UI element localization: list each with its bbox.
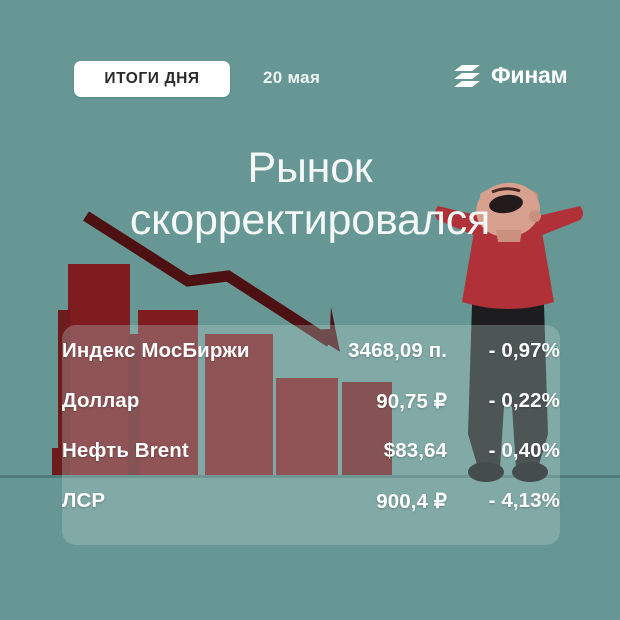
table-row: Нефть Brent $83,64 - 0,40%	[62, 439, 560, 463]
row-change: - 0,97%	[447, 339, 560, 363]
page-title-line2: скорректировался	[0, 194, 620, 246]
table-row: ЛСР 900,4 ₽ - 4,13%	[62, 489, 560, 513]
row-value: $83,64	[312, 439, 447, 463]
row-change: - 4,13%	[447, 489, 560, 513]
row-name: Доллар	[62, 389, 312, 413]
row-value: 3468,09 п.	[312, 339, 447, 363]
row-name: Нефть Brent	[62, 439, 312, 463]
row-value: 90,75 ₽	[312, 389, 447, 414]
table-row: Доллар 90,75 ₽ - 0,22%	[62, 389, 560, 413]
table-row: Индекс МосБиржи 3468,09 п. - 0,97%	[62, 339, 560, 363]
row-value: 900,4 ₽	[312, 489, 447, 514]
summary-table: Индекс МосБиржи 3468,09 п. - 0,97% Долла…	[62, 325, 560, 545]
row-name: Индекс МосБиржи	[62, 339, 312, 363]
row-name: ЛСР	[62, 489, 312, 513]
page-title-line1: Рынок	[247, 144, 372, 192]
row-change: - 0,22%	[447, 389, 560, 413]
page-title: Рынок скорректировался	[0, 142, 620, 246]
row-change: - 0,40%	[447, 439, 560, 463]
infographic-card: ИТОГИ ДНЯ 20 мая Финам Рынок скорректиро…	[0, 0, 620, 620]
